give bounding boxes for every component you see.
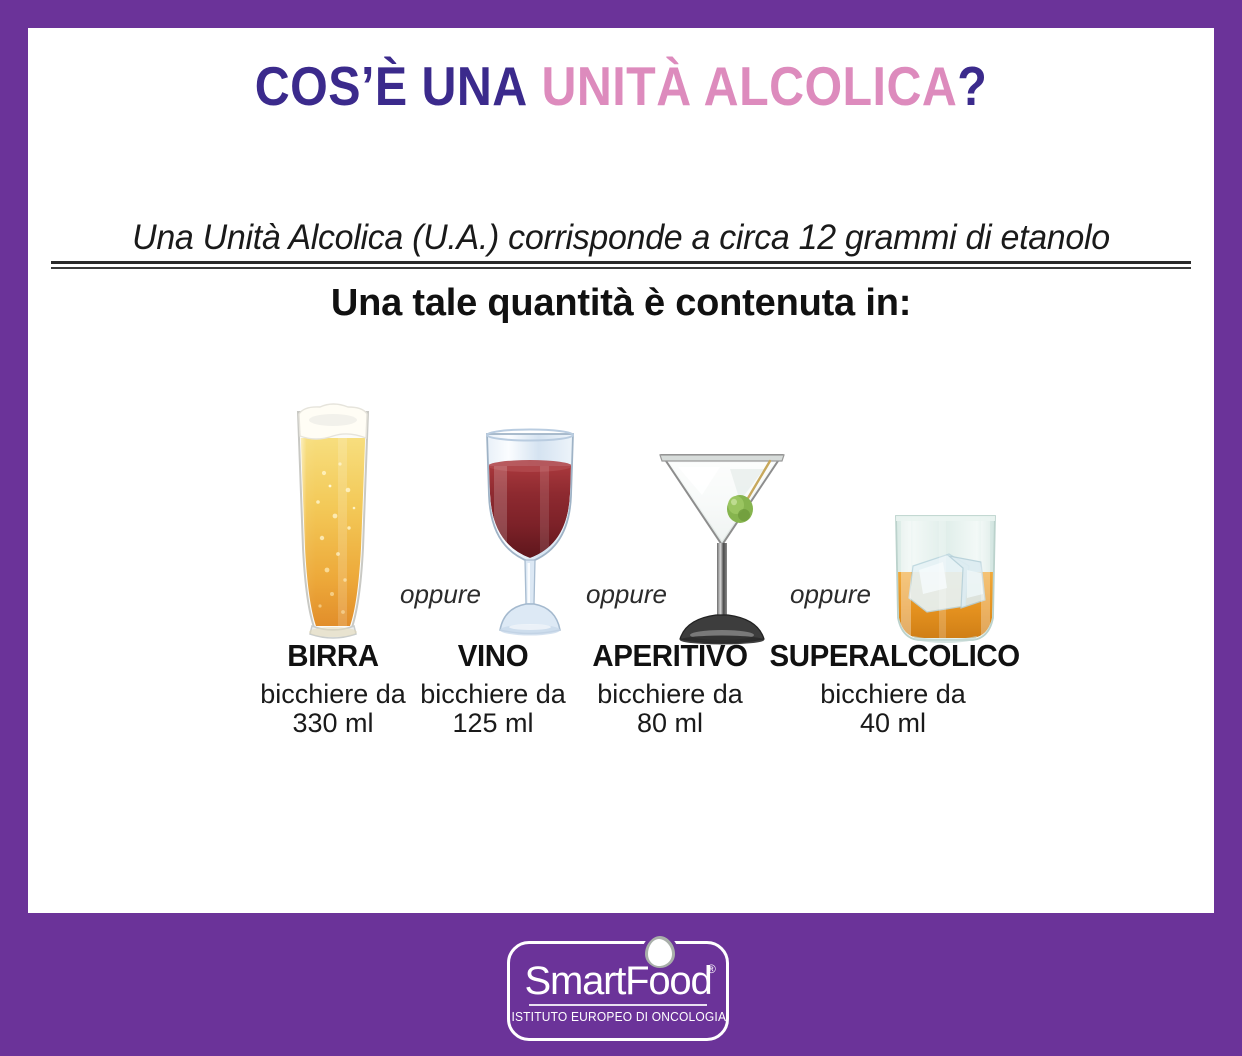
caption-vino: VINO bicchiere da 125 ml [403,638,583,738]
smartfood-logo[interactable]: SmartFood ® ISTITUTO EUROPEO DI ONCOLOGI… [507,929,735,1047]
logo-divider [529,1004,707,1006]
whisky-tumbler-icon [883,510,1008,648]
caption-subtitle: bicchiere da 330 ml [243,680,423,738]
drinks-illustration-row: oppure [238,358,1068,648]
intro-block: Una Unità Alcolica (U.A.) corrisponde a … [46,218,1196,325]
caption-sub-line-2: 125 ml [403,709,583,738]
intro-line-1-wrapper: Una Unità Alcolica (U.A.) corrisponde a … [46,218,1196,258]
caption-sub-line-1: bicchiere da [243,680,423,709]
beer-glass-icon [278,398,388,648]
logo-subtitle: ISTITUTO EUROPEO DI ONCOLOGIA [511,1010,724,1024]
connector-label-3: oppure [790,579,871,610]
title-question-mark: ? [957,55,987,117]
title-part-dark: COS’È UNA [255,55,528,117]
intro-line-2: Una tale quantità è contenuta in: [46,282,1196,325]
caption-subtitle: bicchiere da 40 ml [763,680,1023,738]
caption-title: SUPERALCOLICO [770,638,1017,674]
registered-mark: ® [707,962,716,976]
infographic-poster: COS’È UNA UNITÀ ALCOLICA? Una Unità Alco… [0,0,1242,1056]
drink-captions-row: BIRRA bicchiere da 330 ml VINO bicchiere… [28,638,1214,748]
title-part-pink: UNITÀ ALCOLICA [542,55,958,117]
caption-title: APERITIVO [575,638,765,674]
caption-subtitle: bicchiere da 125 ml [403,680,583,738]
page-title: COS’È UNA UNITÀ ALCOLICA? [99,54,1143,118]
connector-label-1: oppure [400,579,481,610]
caption-sub-line-1: bicchiere da [763,680,1023,709]
caption-birra: BIRRA bicchiere da 330 ml [243,638,423,738]
caption-aperitivo: APERITIVO bicchiere da 80 ml [570,638,770,738]
caption-sub-line-2: 330 ml [243,709,423,738]
caption-superalcolico: SUPERALCOLICO bicchiere da 40 ml [763,638,1023,738]
caption-subtitle: bicchiere da 80 ml [570,680,770,738]
underline-bottom-rule [51,267,1191,269]
caption-sub-line-2: 80 ml [570,709,770,738]
double-underline [51,261,1191,269]
caption-sub-line-1: bicchiere da [403,680,583,709]
logo-wordmark: SmartFood [507,959,729,1004]
caption-sub-line-2: 40 ml [763,709,1023,738]
content-panel: COS’È UNA UNITÀ ALCOLICA? Una Unità Alco… [28,28,1214,913]
caption-sub-line-1: bicchiere da [570,680,770,709]
martini-glass-icon [652,433,792,648]
caption-title: BIRRA [248,638,419,674]
caption-title: VINO [408,638,579,674]
intro-line-1: Una Unità Alcolica (U.A.) corrisponde a … [132,218,1110,258]
wine-glass-icon [470,408,590,648]
